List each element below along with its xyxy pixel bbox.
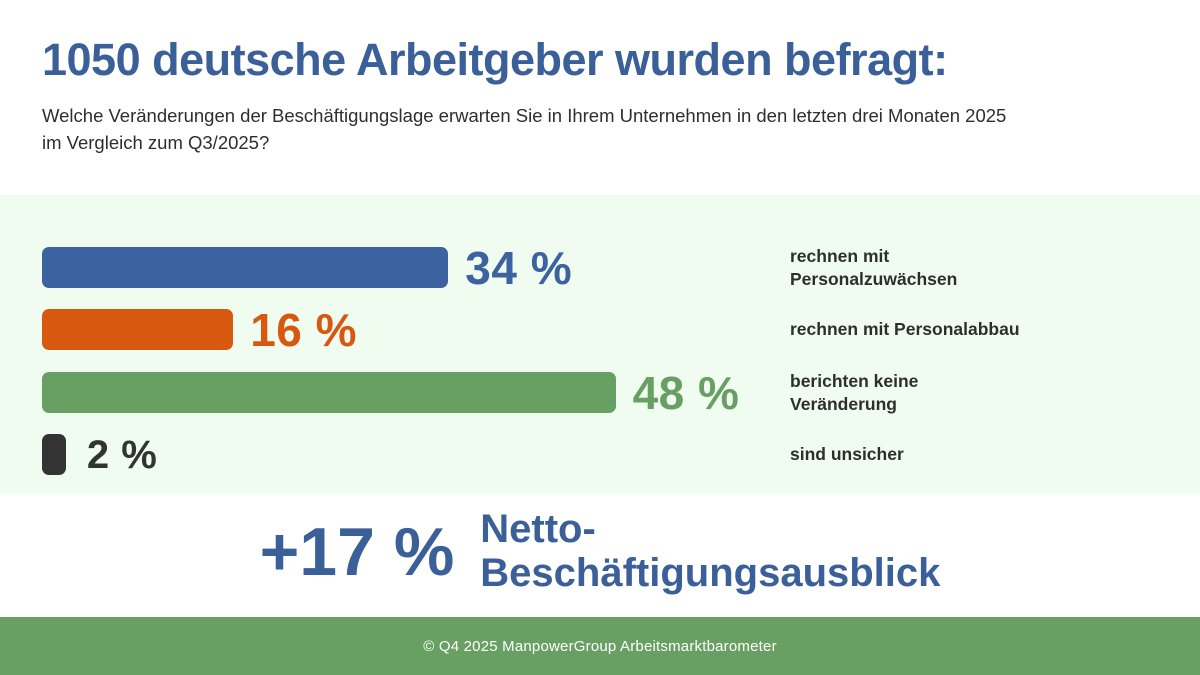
net-outlook-section: +17 % Netto- Beschäftigungsausblick [0,494,1200,617]
infographic-root: 1050 deutsche Arbeitgeber wurden befragt… [0,0,1200,675]
header-section: 1050 deutsche Arbeitgeber wurden befragt… [0,0,1200,195]
survey-question-text: Welche Veränderungen der Beschäftigungsl… [42,103,1022,157]
page-title: 1050 deutsche Arbeitgeber wurden befragt… [42,36,1160,83]
bar-value-label: 34 % [465,245,572,291]
bar-category-label: berichten keine Veränderung [790,370,918,415]
net-outlook-label: Netto- Beschäftigungsausblick [480,508,940,594]
bar-fill [42,247,448,288]
bar-value-label: 48 % [633,370,740,416]
bar-row: 16 %rechnen mit Personalabbau [0,309,1200,350]
bar-fill [42,309,233,350]
bar-category-label: rechnen mit Personalabbau [790,318,1020,340]
footer-bar: © Q4 2025 ManpowerGroup Arbeitsmarktbaro… [0,617,1200,675]
bar-fill [42,372,616,413]
bar-category-label: sind unsicher [790,443,904,465]
bar-category-label: rechnen mit Personalzuwächsen [790,245,957,290]
bar-track: 48 % [42,372,739,413]
bar-track: 34 % [42,247,572,288]
bar-row: 34 %rechnen mit Personalzuwächsen [0,247,1200,288]
bar-track: 16 % [42,309,357,350]
net-outlook-value: +17 % [260,518,455,586]
bar-value-label: 2 % [87,435,157,475]
chart-panel: 34 %rechnen mit Personalzuwächsen16 %rec… [0,195,1200,494]
bar-value-label: 16 % [250,307,357,353]
bar-row: 2 %sind unsicher [0,434,1200,475]
bar-row: 48 %berichten keine Veränderung [0,372,1200,413]
bar-fill [42,434,66,475]
footer-copyright-text: © Q4 2025 ManpowerGroup Arbeitsmarktbaro… [423,638,777,655]
bar-chart: 34 %rechnen mit Personalzuwächsen16 %rec… [0,225,1200,494]
bar-track: 2 % [42,434,157,475]
